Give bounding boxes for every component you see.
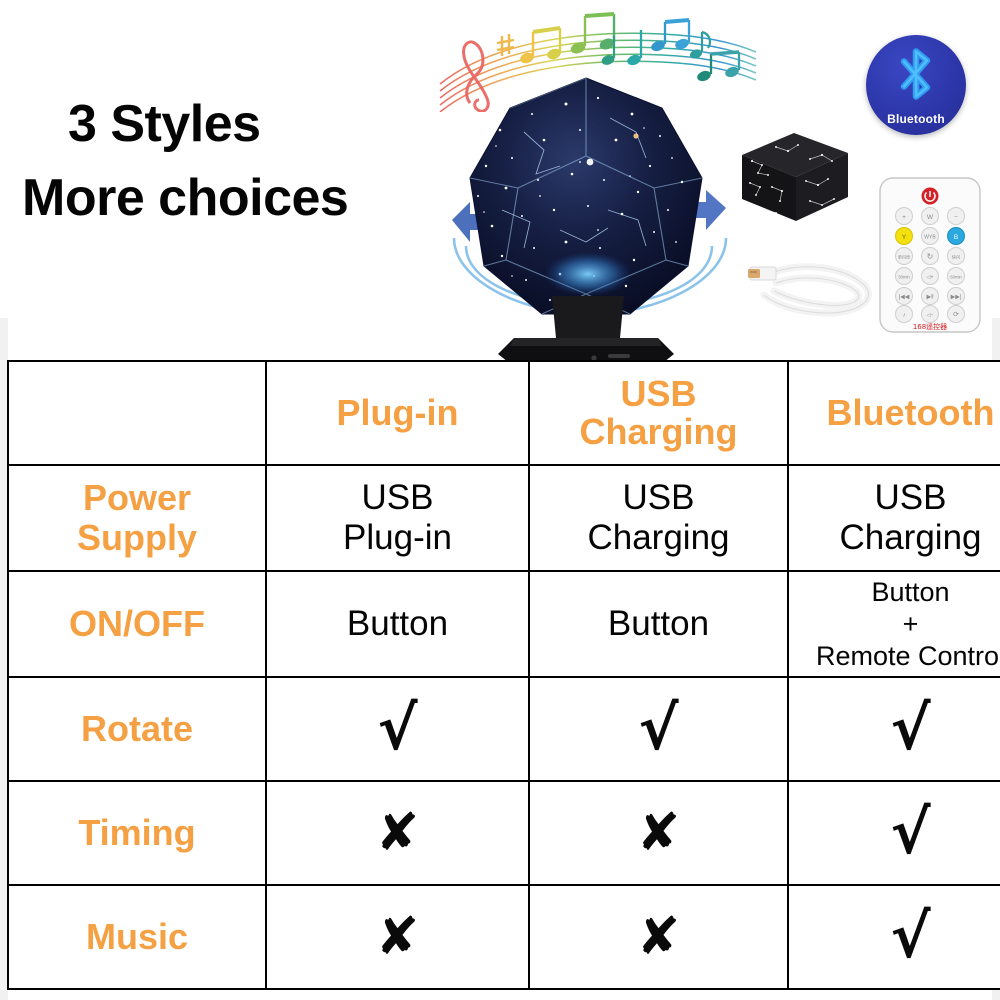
bluetooth-icon (896, 46, 936, 109)
check-icon: √ (793, 803, 1000, 863)
cell-onoff-plugin: Button (266, 571, 529, 677)
cell-power-usb-line1: USB (534, 478, 783, 518)
cell-rotate-plugin: √ (266, 677, 529, 781)
table-row-power-supply: Power Supply USB Plug-in USB Charging US… (8, 465, 1000, 571)
check-icon: √ (793, 699, 1000, 759)
svg-text:⟳: ⟳ (953, 312, 959, 319)
cell-rotate-usb: √ (529, 677, 788, 781)
svg-text:B: B (954, 234, 958, 241)
svg-text:30min: 30min (898, 275, 910, 280)
row-label-rotate: Rotate (8, 677, 266, 781)
table-row-timing: Timing ✘ ✘ √ (8, 781, 1000, 885)
row-label-music: Music (8, 885, 266, 989)
svg-text:单闪烁: 单闪烁 (898, 254, 911, 261)
cross-icon: ✘ (534, 805, 783, 861)
svg-text:快闪: 快闪 (952, 254, 960, 261)
row-label-power-line2: Supply (13, 518, 261, 558)
comparison-table: Plug-in USB Charging Bluetooth Power Sup… (7, 360, 1000, 990)
remote-model-label: 168遥控器 (913, 322, 947, 331)
row-label-on-off: ON/OFF (8, 571, 266, 677)
row-label-timing-text: Timing (13, 813, 261, 853)
header-plug-in: Plug-in (266, 361, 529, 465)
cross-icon: ✘ (271, 805, 524, 861)
cell-power-plugin-line2: Plug-in (271, 518, 524, 558)
cell-music-plugin: ✘ (266, 885, 529, 989)
cell-onoff-usb: Button (529, 571, 788, 677)
headline-line-1: 3 Styles (0, 95, 430, 153)
svg-text:◁+: ◁+ (927, 275, 934, 281)
header-usb-charging-line2: Charging (534, 413, 783, 451)
header-plug-in-label: Plug-in (271, 394, 524, 432)
bluetooth-badge-label: Bluetooth (866, 112, 966, 126)
svg-text:↻: ↻ (927, 252, 934, 261)
cell-onoff-bt-line1: Button (793, 576, 1000, 608)
cell-power-plugin-line1: USB (271, 478, 524, 518)
row-label-timing: Timing (8, 781, 266, 885)
headline-line-2: More choices (0, 169, 430, 227)
row-label-onoff-text: ON/OFF (13, 604, 261, 644)
row-label-power-supply: Power Supply (8, 465, 266, 571)
svg-text:♪: ♪ (903, 313, 906, 319)
cross-icon: ✘ (534, 909, 783, 965)
remote-control-image: + W − Y WYB B 单闪烁 ↻ 快闪 30min ◁+ 60min |◀… (874, 176, 986, 334)
svg-text:−: − (954, 214, 958, 221)
table-header-row: Plug-in USB Charging Bluetooth (8, 361, 1000, 465)
row-label-rotate-text: Rotate (13, 709, 261, 749)
check-icon: √ (793, 907, 1000, 967)
cell-power-bluetooth: USB Charging (788, 465, 1000, 571)
bluetooth-badge: Bluetooth (866, 35, 966, 135)
header-bluetooth-label: Bluetooth (793, 394, 1000, 432)
row-label-music-text: Music (13, 917, 261, 957)
cell-rotate-bluetooth: √ (788, 677, 1000, 781)
cell-timing-usb: ✘ (529, 781, 788, 885)
cell-onoff-usb-text: Button (534, 604, 783, 644)
cell-timing-bluetooth: √ (788, 781, 1000, 885)
header-usb-charging-line1: USB (534, 375, 783, 413)
svg-text:WYB: WYB (924, 235, 936, 241)
svg-text:▶▶|: ▶▶| (951, 295, 962, 301)
svg-text:+: + (902, 214, 906, 221)
header-usb-charging: USB Charging (529, 361, 788, 465)
cell-power-bt-line1: USB (793, 478, 1000, 518)
cross-icon: ✘ (271, 909, 524, 965)
table-row-music: Music ✘ ✘ √ (8, 885, 1000, 989)
svg-text:|◀◀: |◀◀ (899, 295, 910, 301)
row-label-power-line1: Power (13, 478, 261, 518)
table-row-rotate: Rotate √ √ √ (8, 677, 1000, 781)
cell-onoff-bt-line2: + (793, 608, 1000, 640)
table-row-on-off: ON/OFF Button Button Button + Remote Con… (8, 571, 1000, 677)
check-icon: √ (271, 699, 524, 759)
product-comparison-page: 3 Styles More choices (0, 0, 1000, 1000)
svg-text:◁−: ◁− (927, 313, 934, 319)
cell-music-bluetooth: √ (788, 885, 1000, 989)
star-projector-lamp-image (440, 70, 732, 360)
svg-text:W: W (927, 214, 934, 221)
usb-cable-image (742, 243, 882, 325)
cell-power-bt-line2: Charging (793, 518, 1000, 558)
constellation-gift-box-image (736, 125, 854, 225)
cell-power-usb-line2: Charging (534, 518, 783, 558)
cell-music-usb: ✘ (529, 885, 788, 989)
cell-onoff-plugin-text: Button (271, 604, 524, 644)
header-corner-cell (8, 361, 266, 465)
cell-power-plugin: USB Plug-in (266, 465, 529, 571)
cell-onoff-bt-line3: Remote Control (793, 640, 1000, 672)
svg-text:60min: 60min (950, 275, 962, 280)
check-icon: √ (534, 699, 783, 759)
cell-power-usb: USB Charging (529, 465, 788, 571)
cell-onoff-bluetooth: Button + Remote Control (788, 571, 1000, 677)
svg-text:Y: Y (902, 234, 907, 241)
cell-timing-plugin: ✘ (266, 781, 529, 885)
headline-block: 3 Styles More choices (0, 95, 430, 227)
header-bluetooth: Bluetooth (788, 361, 1000, 465)
svg-text:▶‖: ▶‖ (926, 295, 933, 301)
